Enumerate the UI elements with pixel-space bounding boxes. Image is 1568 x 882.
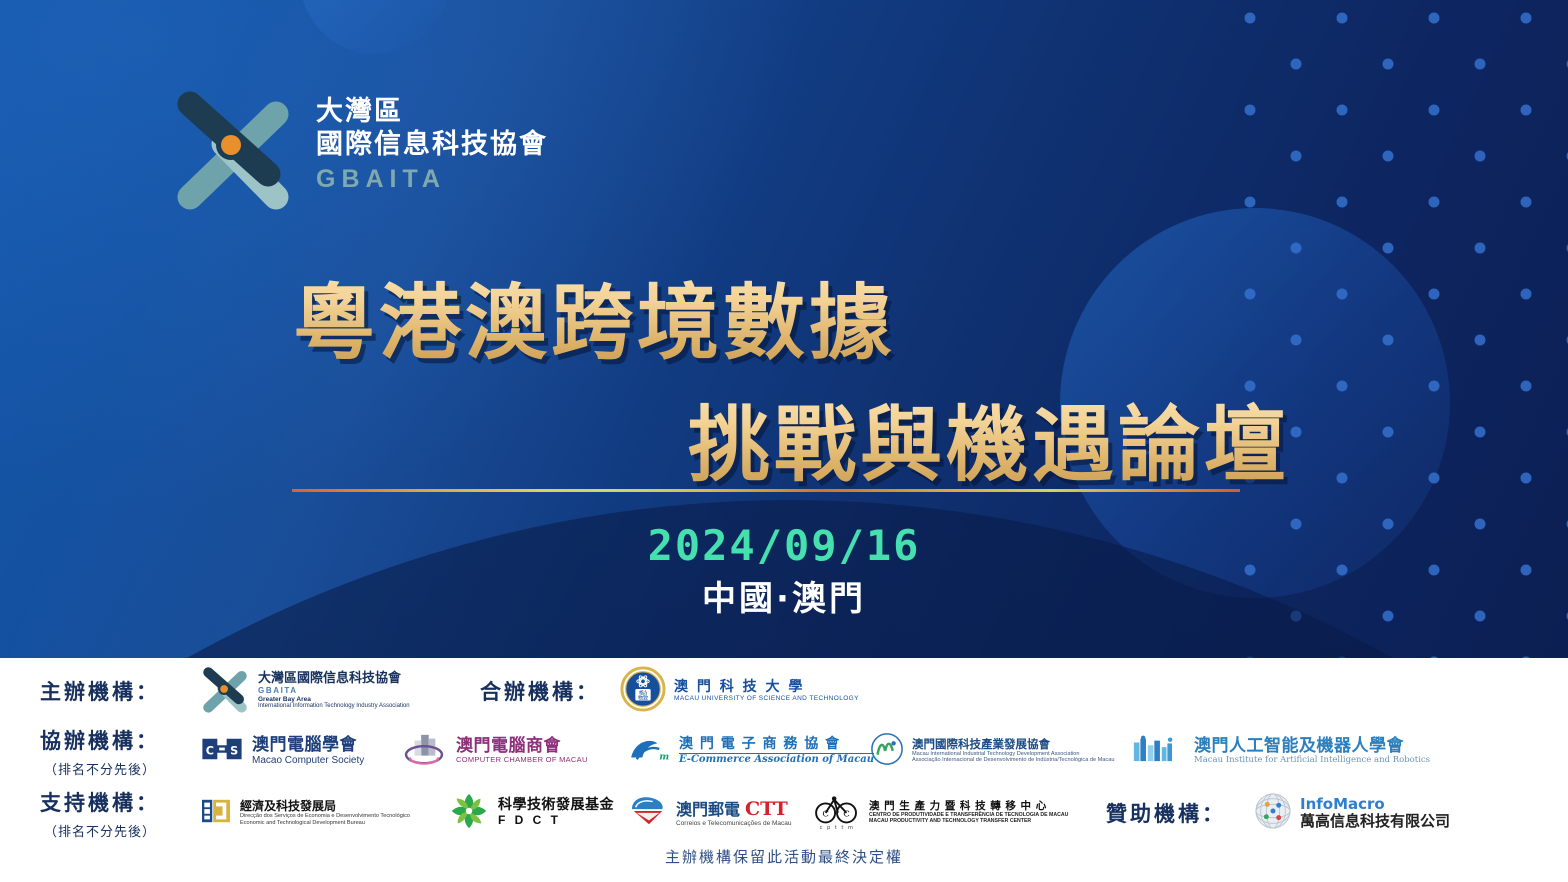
logo-gbaita-abbr: GBAITA <box>258 687 410 696</box>
logo-ctt: 澳門郵電 CTT Correios e Telecomunicações de … <box>628 794 813 833</box>
logo-mair: 澳門人工智能及機器人學會 Macau Institute for Artific… <box>1132 735 1412 768</box>
logo-ecam: m 澳 門 電 子 商 務 協 會 E-Commerce Association… <box>625 734 870 769</box>
association-name-line1: 大灣區 <box>316 95 548 128</box>
logo-ctt-abbr: CTT <box>745 799 788 820</box>
logo-ccm-text: 澳門電腦商會 COMPUTER CHAMBER OF MACAU <box>456 737 588 764</box>
logo-gbaita-cn: 大灣區國際信息科技協會 <box>258 672 410 687</box>
association-logo-block: 大灣區 國際信息科技協會 GBAITA <box>168 82 548 212</box>
logo-must-cn: 澳 門 科 技 大 學 <box>674 680 859 696</box>
svg-text:物致: 物致 <box>638 693 648 701</box>
association-name: 大灣區 國際信息科技協會 GBAITA <box>316 95 548 200</box>
logo-must-en: MACAU UNIVERSITY OF SCIENCE AND TECHNOLO… <box>674 695 859 702</box>
logo-mitda: 澳門國際科技產業發展協會 Macau International Industr… <box>870 732 1132 771</box>
mair-logo-icon <box>1132 735 1186 768</box>
logo-fdct-cn: 科學技術發展基金 <box>498 798 614 814</box>
svg-text:C: C <box>843 809 850 819</box>
footer-row-coorganizers: 協辦機構： （排名不分先後） C S 澳門電腦學會 Macao Computer… <box>0 720 1568 782</box>
svg-text:S: S <box>230 744 238 757</box>
label-support-orgs-text: 支持機構： <box>0 787 200 817</box>
label-sponsor-text: 贊助機構： <box>1078 798 1254 828</box>
logo-gbaita-en2: International Information Technology Ind… <box>258 703 410 710</box>
logo-dsedt-cn: 經濟及科技發展局 <box>240 800 410 813</box>
logo-ecam-cn: 澳 門 電 子 商 務 協 會 <box>679 737 874 755</box>
logo-ecam-text: 澳 門 電 子 商 務 協 會 E-Commerce Association o… <box>679 737 874 766</box>
logo-ctt-text: 澳門郵電 CTT Correios e Telecomunicações de … <box>676 799 792 828</box>
gbaita-x-logo-icon <box>168 82 298 212</box>
logo-fdct: 科學技術發展基金 F D C T <box>448 790 628 837</box>
logo-dsedt-en: Economic and Technological Development B… <box>240 820 410 826</box>
dsedt-logo-icon <box>200 797 232 830</box>
logo-infomacro-text: InfoMacro 萬高信息科技有限公司 <box>1300 796 1450 830</box>
event-date: 2024/09/16 <box>0 521 1568 570</box>
label-sponsor: 贊助機構： <box>1078 798 1254 828</box>
logo-gbaita: 大灣區國際信息科技協會 GBAITA Greater Bay Area Inte… <box>200 664 460 719</box>
svg-text:m: m <box>659 751 669 762</box>
logo-cpttm: C C c p t t m 澳 門 生 產 力 暨 科 技 轉 移 中 心 CE… <box>813 792 1078 835</box>
logo-mitda-en2: Associação Internacional de Desenvolvime… <box>912 757 1114 763</box>
fdct-logo-icon <box>448 790 490 837</box>
cpttm-abbr: c p t t m <box>820 825 855 830</box>
logo-gbaita-en1: Greater Bay Area <box>258 696 410 703</box>
cpttm-logo-icon: C C c p t t m <box>813 792 861 835</box>
label-organizer: 主辦機構： <box>0 676 200 706</box>
forum-title-line2: 挑戰與機遇論壇 <box>688 378 1290 497</box>
logo-cpttm-en: MACAU PRODUCTIVITY AND TECHNOLOGY TRANSF… <box>869 819 1068 825</box>
logo-ccm-en: COMPUTER CHAMBER OF MACAU <box>456 756 588 764</box>
label-supporting-orgs: 協辦機構： （排名不分先後） <box>0 725 200 778</box>
label-support-orgs-note: （排名不分先後） <box>0 821 200 840</box>
logo-infomacro-en: InfoMacro <box>1300 796 1450 813</box>
label-organizer-text: 主辦機構： <box>0 676 200 706</box>
infomacro-logo-icon <box>1254 792 1292 835</box>
event-location: 中國·澳門 <box>0 571 1568 620</box>
logo-mair-en: Macau Institute for Artificial Intellige… <box>1194 756 1430 766</box>
logo-ccm-cn: 澳門電腦商會 <box>456 737 588 756</box>
label-supporting-orgs-text: 協辦機構： <box>0 725 200 755</box>
disclaimer-text: 主辦機構保留此活動最終決定權 <box>0 846 1568 867</box>
sponsor-footer: 主辦機構： 大灣區國際信息科技協會 GBAITA Greater Bay Are… <box>0 658 1568 882</box>
must-seal-logo-icon: 格â 物致 <box>620 666 666 717</box>
logo-gbaita-text: 大灣區國際信息科技協會 GBAITA Greater Bay Area Inte… <box>258 672 410 709</box>
association-name-line2: 國際信息科技協會 <box>316 128 548 161</box>
ecam-logo-icon: m <box>625 734 671 769</box>
logo-mitda-text: 澳門國際科技產業發展協會 Macau International Industr… <box>912 738 1114 763</box>
gbaita-x-logo-icon <box>200 664 250 719</box>
logo-mair-text: 澳門人工智能及機器人學會 Macau Institute for Artific… <box>1194 737 1430 766</box>
gold-divider-rule <box>292 489 1240 492</box>
mcs-logo-icon: C S <box>200 735 244 768</box>
hero-banner: 大灣區 國際信息科技協會 GBAITA 粵港澳跨境數據 挑戰與機遇論壇 2024… <box>0 0 1568 658</box>
ccm-logo-icon <box>400 732 448 771</box>
logo-mitda-cn: 澳門國際科技產業發展協會 <box>912 738 1114 751</box>
svg-text:C: C <box>822 809 829 819</box>
label-coorganizer: 合辦機構： <box>460 676 620 706</box>
logo-mcs: C S 澳門電腦學會 Macao Computer Society <box>200 735 400 768</box>
logo-fdct-text: 科學技術發展基金 F D C T <box>498 798 614 827</box>
logo-ctt-pt: Correios e Telecomunicações de Macau <box>676 820 792 827</box>
logo-must-text: 澳 門 科 技 大 學 MACAU UNIVERSITY OF SCIENCE … <box>674 680 859 703</box>
logo-infomacro: InfoMacro 萬高信息科技有限公司 <box>1254 792 1450 835</box>
decorative-circle-small <box>300 0 450 54</box>
ctt-logo-icon <box>628 794 668 833</box>
footer-row-organizer: 主辦機構： 大灣區國際信息科技協會 GBAITA Greater Bay Are… <box>0 660 1568 722</box>
logo-fdct-abbr: F D C T <box>498 814 614 827</box>
logo-ecam-en: E-Commerce Association of Macau <box>679 754 874 765</box>
logo-mcs-cn: 澳門電腦學會 <box>252 736 364 755</box>
label-support-orgs: 支持機構： （排名不分先後） <box>0 787 200 840</box>
logo-dsedt: 經濟及科技發展局 Direcção dos Serviços de Econom… <box>200 797 448 830</box>
logo-must: 格â 物致 澳 門 科 技 大 學 MACAU UNIVERSITY OF SC… <box>620 666 859 717</box>
label-coorganizer-text: 合辦機構： <box>460 676 620 706</box>
label-supporting-orgs-note: （排名不分先後） <box>0 759 200 778</box>
logo-infomacro-cn: 萬高信息科技有限公司 <box>1300 813 1450 830</box>
footer-row-supporters: 支持機構： （排名不分先後） 經濟及科技發展局 Direcção dos Ser… <box>0 782 1568 844</box>
logo-cpttm-text: 澳 門 生 產 力 暨 科 技 轉 移 中 心 CENTRO DE PRODUT… <box>869 801 1068 824</box>
logo-mair-cn: 澳門人工智能及機器人學會 <box>1194 737 1430 756</box>
logo-mcs-en: Macao Computer Society <box>252 755 364 766</box>
logo-mcs-text: 澳門電腦學會 Macao Computer Society <box>252 736 364 766</box>
logo-ctt-cn: 澳門郵電 <box>676 801 740 819</box>
forum-title-line1: 粵港澳跨境數據 <box>293 256 895 375</box>
mitda-logo-icon <box>870 732 904 771</box>
logo-dsedt-text: 經濟及科技發展局 Direcção dos Serviços de Econom… <box>240 800 410 826</box>
association-abbr: GBAITA <box>316 164 548 195</box>
svg-text:C: C <box>206 744 214 757</box>
logo-dsedt-pt: Direcção dos Serviços de Economia e Dese… <box>240 813 410 819</box>
logo-ccm: 澳門電腦商會 COMPUTER CHAMBER OF MACAU <box>400 732 625 771</box>
